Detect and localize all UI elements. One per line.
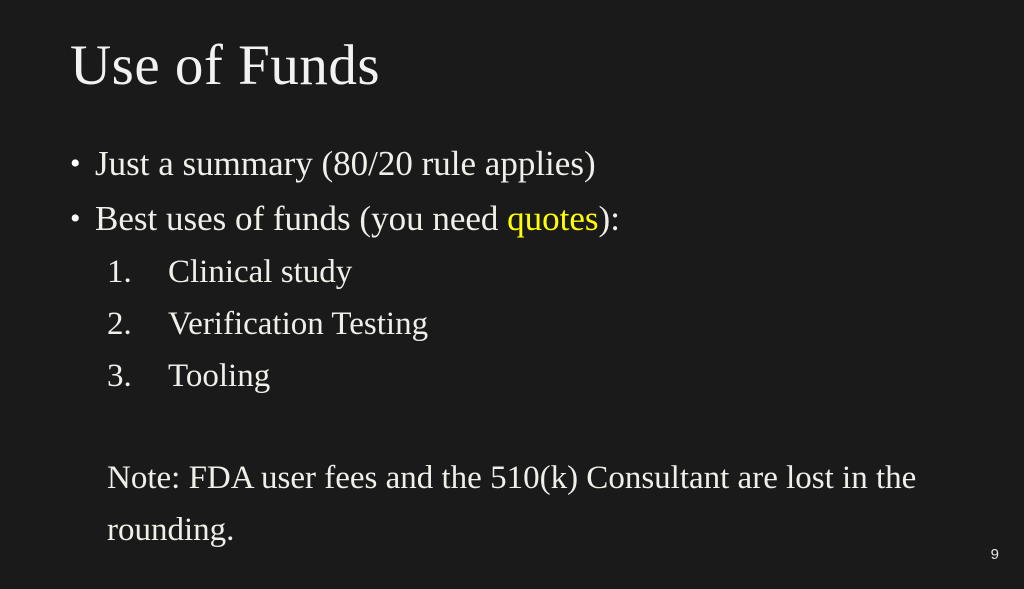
bullet-item-best-uses: • Best uses of funds (you need quotes): — [0, 191, 1024, 246]
page-title: Use of Funds — [70, 33, 380, 99]
list-item-number: 3. — [107, 350, 132, 402]
bullet-item-best-uses-suffix: ): — [599, 199, 620, 238]
list-item: 2. Verification Testing — [0, 298, 1024, 350]
list-item-number: 2. — [107, 298, 132, 350]
note-paragraph: Note: FDA user fees and the 510(k) Consu… — [0, 452, 1024, 556]
slide-body: • Just a summary (80/20 rule applies) • … — [0, 136, 1024, 589]
bullet-dot-icon: • — [70, 191, 84, 246]
list-item-label: Verification Testing — [168, 306, 428, 342]
bullet-item-best-uses-prefix: Best uses of funds (you need — [95, 199, 507, 238]
page-number: 9 — [991, 547, 999, 562]
slide: Use of Funds • Just a summary (80/20 rul… — [0, 0, 1024, 576]
list-item-label: Clinical study — [168, 254, 352, 290]
list-item-number: 1. — [107, 246, 132, 298]
list-item: 3. Tooling — [0, 350, 1024, 402]
bullet-dot-icon: • — [70, 136, 84, 191]
bullet-item-summary-label: Just a summary (80/20 rule applies) — [95, 144, 596, 183]
list-item: 1. Clinical study — [0, 246, 1024, 298]
numbered-list: 1. Clinical study 2. Verification Testin… — [0, 246, 1024, 402]
bullet-item-summary: • Just a summary (80/20 rule applies) — [0, 136, 1024, 191]
highlighted-word-quotes: quotes — [507, 199, 598, 238]
list-item-label: Tooling — [168, 358, 270, 394]
